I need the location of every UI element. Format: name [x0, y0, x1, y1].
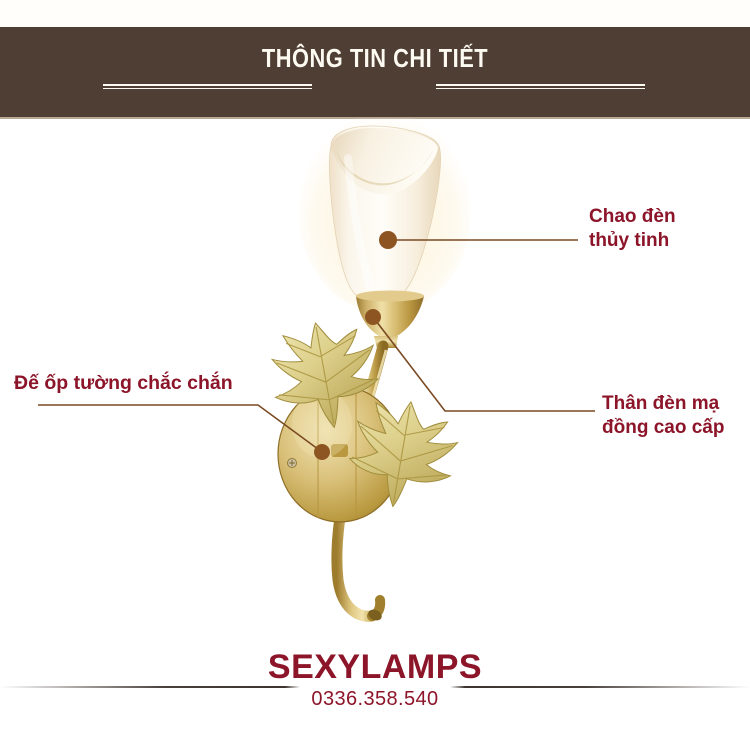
- page-title: THÔNG TIN CHI TIẾT: [60, 43, 690, 74]
- callout-label-wall-base: Đế ốp tường chắc chắn: [14, 371, 233, 396]
- brass-cup-rim: [356, 291, 424, 302]
- divider-line-upper: [103, 84, 312, 86]
- divider-line-lower: [436, 88, 645, 90]
- header-banner: THÔNG TIN CHI TIẾT: [0, 27, 750, 119]
- callout-dot-wall-base: [314, 444, 330, 460]
- contact-phone: 0336.358.540: [0, 688, 750, 711]
- callout-label-glass-shade: Chao đèn thủy tinh: [589, 205, 676, 254]
- header-divider-right: [436, 84, 645, 89]
- product-infographic: THÔNG TIN CHI TIẾT: [0, 0, 750, 750]
- leader-line-lamp-body: [373, 317, 595, 411]
- phone-number: 0336.358.540: [297, 688, 452, 711]
- header-divider-left: [103, 84, 312, 89]
- callout-dot-glass-shade: [379, 231, 397, 249]
- divider-line-lower: [103, 88, 312, 90]
- footer: SEXYLAMPS 0336.358.540: [0, 640, 750, 750]
- top-white-strip: [0, 0, 750, 27]
- callout-dot-lamp-body: [365, 309, 381, 325]
- brand-name: SEXYLAMPS: [0, 648, 750, 687]
- callout-label-lamp-body: Thân đèn mạ đồng cao cấp: [602, 392, 724, 441]
- divider-line-upper: [436, 84, 645, 86]
